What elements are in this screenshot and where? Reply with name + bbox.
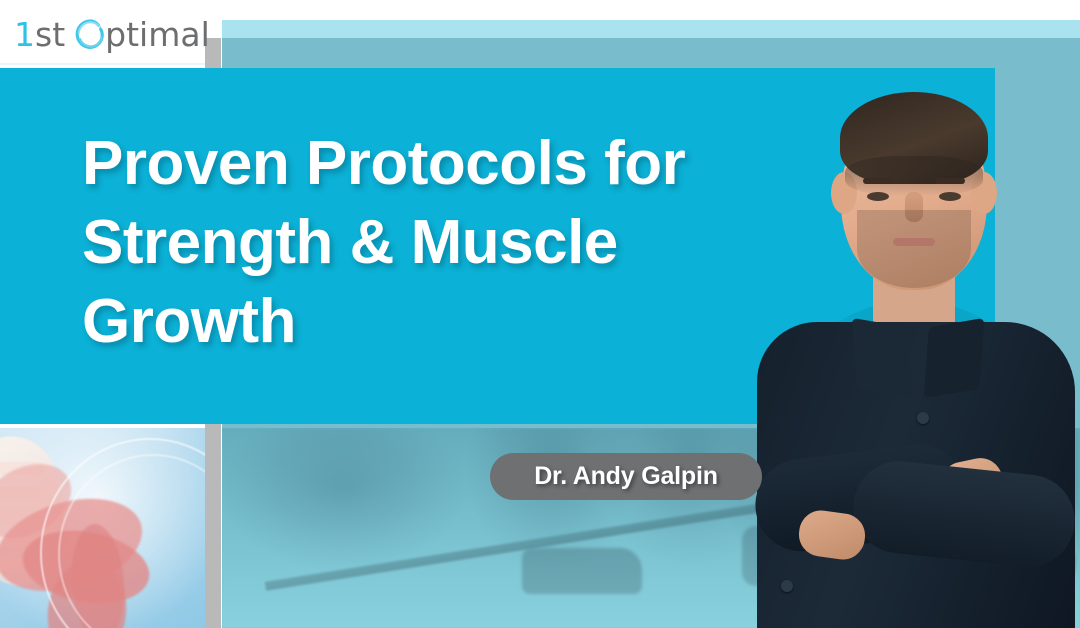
portrait-cuff-button — [781, 580, 793, 592]
portrait-collar — [852, 318, 913, 398]
logo-header-underline — [0, 63, 205, 65]
logo-suffix-st: st — [35, 18, 65, 51]
portrait-eye — [867, 192, 889, 201]
page-title: Proven Protocols for Strength & Muscle G… — [82, 124, 802, 361]
portrait-eyebrow — [863, 178, 893, 184]
portrait-eye — [939, 192, 961, 201]
headline-line-2: Strength & Muscle — [82, 203, 802, 282]
portrait-eyebrow — [935, 178, 965, 184]
portrait-dr-andy-galpin — [745, 60, 1080, 628]
headline-line-1: Proven Protocols for — [82, 124, 802, 203]
headline-line-3: Growth — [82, 282, 802, 361]
shoulder-muscle-anatomy-illustration — [0, 428, 205, 628]
brushstroke-circle-icon — [74, 19, 105, 50]
portrait-hairline — [845, 156, 983, 196]
logo-number-1: 1 — [14, 18, 35, 51]
slide-canvas: Proven Protocols for Strength & Muscle G… — [0, 0, 1080, 628]
portrait-mouth — [893, 238, 935, 246]
speaker-name-badge: Dr. Andy Galpin — [490, 453, 762, 500]
portrait-collar — [924, 318, 985, 398]
portrait-shirt-button — [917, 412, 929, 424]
portrait-beard — [857, 210, 971, 288]
speaker-name-label: Dr. Andy Galpin — [534, 462, 718, 491]
logo-text-optimal: ptimal — [105, 18, 210, 51]
background-lightblue-band — [222, 20, 1080, 38]
brand-logo[interactable]: 1 st ptimal — [14, 17, 210, 51]
